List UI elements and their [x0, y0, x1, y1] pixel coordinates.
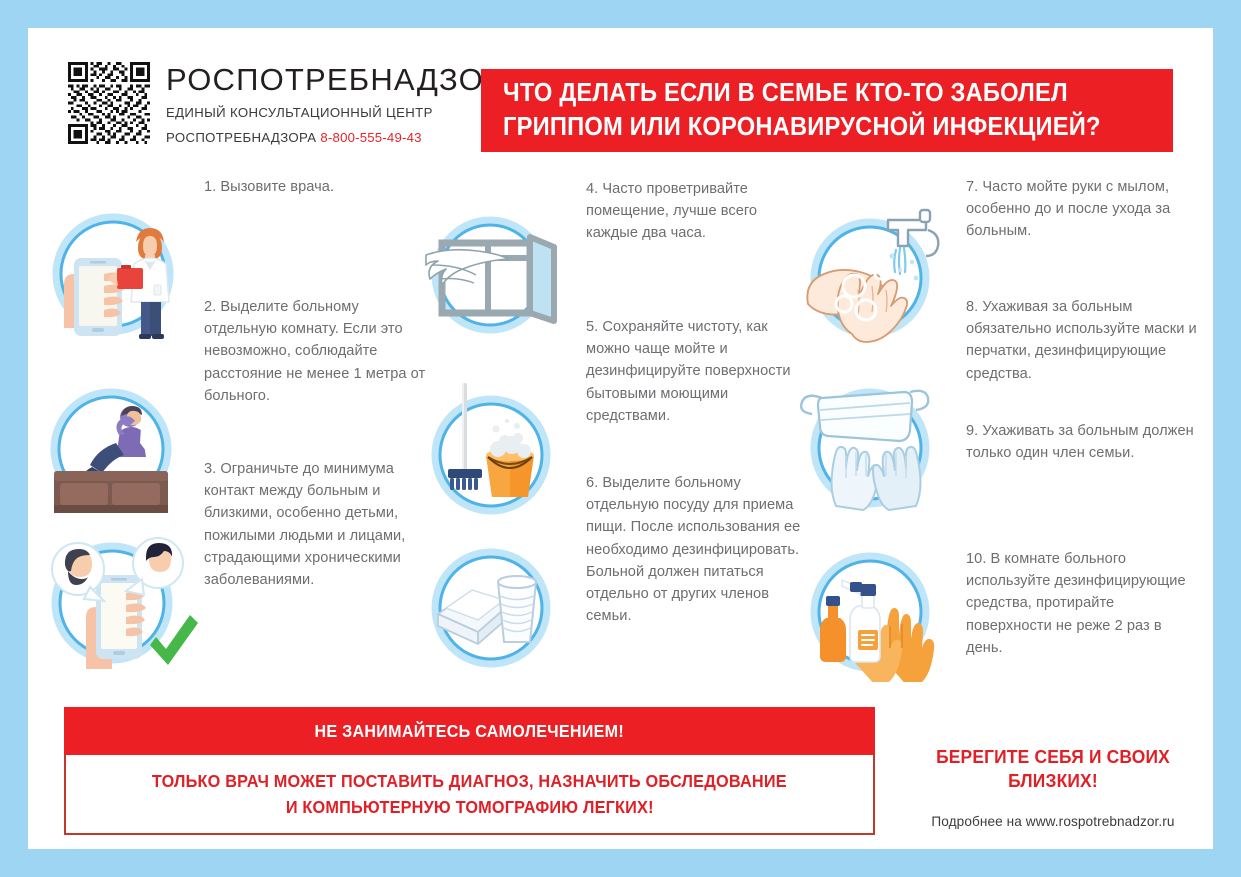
warning-body-line-2: И КОМПЬЮТЕРНУЮ ТОМОГРАФИЮ ЛЕГКИХ! [286, 794, 654, 820]
illustration-disposable-tableware [418, 538, 570, 680]
hotline-phone[interactable]: 8-800-555-49-43 [320, 130, 421, 145]
warning-box: НЕ ЗАНИМАЙТЕСЬ САМОЛЕЧЕНИЕМ! ТОЛЬКО ВРАЧ… [64, 707, 875, 835]
care-block: БЕРЕГИТЕ СЕБЯ И СВОИХ БЛИЗКИХ! Подробнее… [908, 745, 1198, 829]
illustration-video-call-checkmark [46, 533, 201, 673]
advice-text-4: 4. Часто проветривайте помещение, лучше … [586, 178, 806, 245]
website-link[interactable]: Подробнее на www.rospotrebnadzor.ru [908, 814, 1198, 829]
brand-subtitle-line-1: ЕДИНЫЙ КОНСУЛЬТАЦИОННЫЙ ЦЕНТР [166, 103, 506, 122]
advice-text-5: 5. Сохраняйте чистоту, как можно чаще мо… [586, 316, 802, 427]
person-on-sofa-icon [46, 383, 196, 518]
care-line-1: БЕРЕГИТЕ СЕБЯ И СВОИХ [917, 745, 1190, 769]
brand-text: РОСПОТРЕБНАДЗОР ЕДИНЫЙ КОНСУЛЬТАЦИОННЫЙ … [166, 62, 506, 147]
advice-text-8: 8. Ухаживая за больным обязательно испол… [966, 296, 1201, 385]
phone-doctor-icon [46, 210, 196, 340]
warning-header-text: НЕ ЗАНИМАЙТЕСЬ САМОЛЕЧЕНИЕМ! [315, 721, 625, 742]
advice-text-3: 3. Ограничьте до минимума контакт между … [204, 458, 429, 591]
advice-column-1: 1. Вызовите врача. [46, 168, 436, 668]
care-line-2: БЛИЗКИХ! [917, 769, 1190, 793]
disinfectant-gloves-icon [796, 540, 954, 682]
warning-body-line-1: ТОЛЬКО ВРАЧ МОЖЕТ ПОСТАВИТЬ ДИАГНОЗ, НАЗ… [152, 768, 787, 794]
handwashing-icon [796, 206, 954, 348]
advice-text-6: 6. Выделите больному отдельную посуду дл… [586, 472, 810, 627]
poster-header: РОСПОТРЕБНАДЗОР ЕДИНЫЙ КОНСУЛЬТАЦИОННЫЙ … [28, 28, 1213, 150]
advice-text-7: 7. Часто мойте руки с мылом, особенно до… [966, 176, 1198, 243]
brand-subtitle-line-2: РОСПОТРЕБНАДЗОРА 8-800-555-49-43 [166, 128, 506, 147]
illustration-mop-bucket [418, 383, 570, 525]
advice-column-3: 7. Часто мойте руки с мылом, особенно до… [788, 168, 1198, 668]
title-banner: ЧТО ДЕЛАТЬ ЕСЛИ В СЕМЬЕ КТО-ТО ЗАБОЛЕЛ Г… [481, 69, 1173, 152]
advice-text-10: 10. В комнате больного используйте дезин… [966, 548, 1198, 659]
illustration-person-on-sofa [46, 383, 196, 518]
illustration-mask-gloves [796, 376, 954, 518]
video-call-checkmark-icon [46, 533, 201, 673]
title-line-2: ГРИППОМ ИЛИ КОРОНАВИРУСНОЙ ИНФЕКЦИЕЙ? [503, 111, 1106, 145]
brand-block: РОСПОТРЕБНАДЗОР ЕДИНЫЙ КОНСУЛЬТАЦИОННЫЙ … [68, 62, 506, 147]
qr-code-icon [68, 62, 150, 144]
poster-canvas: РОСПОТРЕБНАДЗОР ЕДИНЫЙ КОНСУЛЬТАЦИОННЫЙ … [28, 28, 1213, 849]
illustration-disinfectant-gloves [796, 540, 954, 682]
advice-grid: 1. Вызовите врача. [28, 168, 1213, 668]
advice-column-2: 4. Часто проветривайте помещение, лучше … [418, 168, 798, 668]
illustration-handwashing [796, 206, 954, 348]
warning-body: ТОЛЬКО ВРАЧ МОЖЕТ ПОСТАВИТЬ ДИАГНОЗ, НАЗ… [64, 755, 875, 835]
illustration-phone-doctor [46, 210, 196, 340]
advice-text-9: 9. Ухаживать за больным должен только од… [966, 420, 1198, 464]
brand-subtitle-org: РОСПОТРЕБНАДЗОРА [166, 130, 316, 145]
warning-header: НЕ ЗАНИМАЙТЕСЬ САМОЛЕЧЕНИЕМ! [64, 707, 875, 755]
open-window-icon [418, 213, 568, 343]
mask-gloves-icon [796, 376, 954, 518]
advice-text-1: 1. Вызовите врача. [204, 176, 424, 198]
brand-title: РОСПОТРЕБНАДЗОР [166, 64, 506, 97]
illustration-open-window [418, 213, 568, 343]
disposable-tableware-icon [418, 538, 570, 680]
poster-footer: НЕ ЗАНИМАЙТЕСЬ САМОЛЕЧЕНИЕМ! ТОЛЬКО ВРАЧ… [28, 683, 1213, 849]
mop-bucket-icon [418, 383, 570, 525]
advice-text-2: 2. Выделите больному отдельную комнату. … [204, 296, 426, 407]
title-line-1: ЧТО ДЕЛАТЬ ЕСЛИ В СЕМЬЕ КТО-ТО ЗАБОЛЕЛ [503, 77, 1106, 111]
